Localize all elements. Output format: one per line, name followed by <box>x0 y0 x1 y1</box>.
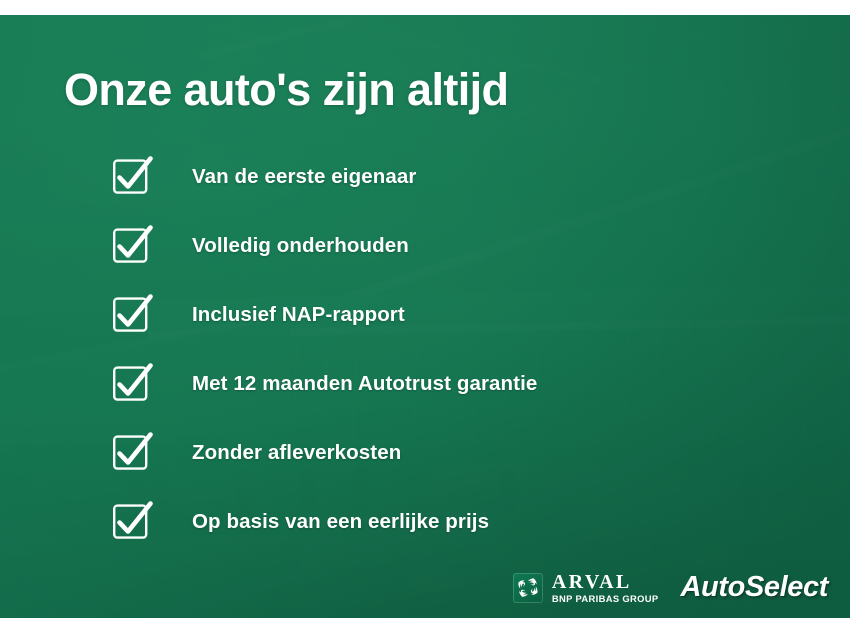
list-item: Inclusief NAP-rapport <box>112 280 537 349</box>
banner-stage: Onze auto's zijn altijd Van de eerste ei… <box>0 0 850 638</box>
list-item: Met 12 maanden Autotrust garantie <box>112 349 537 418</box>
arval-logo: ARVAL BNP PARIBAS GROUP <box>513 572 659 603</box>
arval-name: ARVAL <box>552 572 659 592</box>
bnp-paribas-stars-icon <box>513 573 543 603</box>
list-item-label: Op basis van een eerlijke prijs <box>192 510 489 534</box>
checkbox-checked-icon <box>112 157 152 197</box>
banner-content: Onze auto's zijn altijd Van de eerste ei… <box>0 15 850 618</box>
list-item-label: Inclusief NAP-rapport <box>192 303 405 327</box>
checkbox-checked-icon <box>112 502 152 542</box>
checkbox-checked-icon <box>112 433 152 473</box>
autoselect-logo: AutoSelect <box>681 571 828 604</box>
list-item: Zonder afleverkosten <box>112 418 537 487</box>
promo-banner: Onze auto's zijn altijd Van de eerste ei… <box>0 15 850 618</box>
list-item-label: Zonder afleverkosten <box>192 441 401 465</box>
footer-logos: ARVAL BNP PARIBAS GROUP AutoSelect <box>513 571 828 604</box>
list-item-label: Met 12 maanden Autotrust garantie <box>192 372 537 396</box>
checkbox-checked-icon <box>112 295 152 335</box>
arval-subtitle: BNP PARIBAS GROUP <box>552 594 659 603</box>
list-item: Van de eerste eigenaar <box>112 142 537 211</box>
arval-wordmark: ARVAL BNP PARIBAS GROUP <box>552 572 659 603</box>
list-item: Volledig onderhouden <box>112 211 537 280</box>
feature-checklist: Van de eerste eigenaar Volledig onderhou… <box>112 142 537 556</box>
list-item-label: Volledig onderhouden <box>192 234 409 258</box>
checkbox-checked-icon <box>112 364 152 404</box>
list-item: Op basis van een eerlijke prijs <box>112 487 537 556</box>
page-title: Onze auto's zijn altijd <box>64 67 508 112</box>
list-item-label: Van de eerste eigenaar <box>192 165 416 189</box>
checkbox-checked-icon <box>112 226 152 266</box>
